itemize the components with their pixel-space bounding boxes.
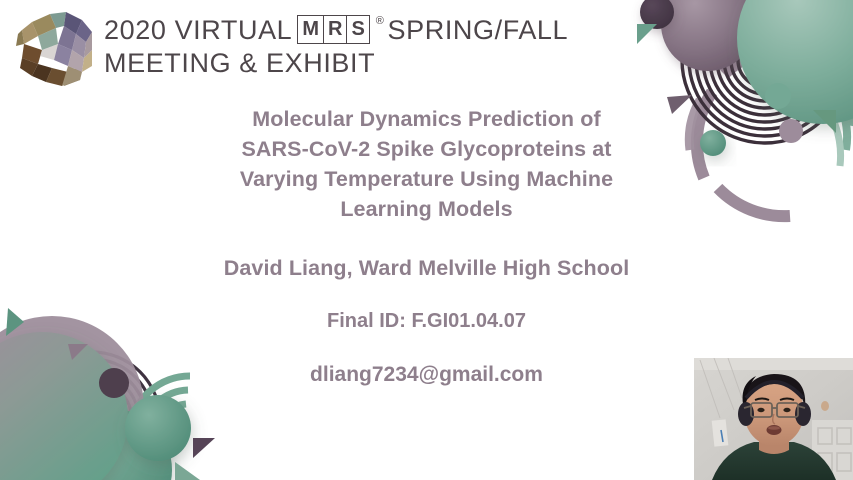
mrs-letter-m: M [297, 15, 324, 44]
mauve-sphere-top [661, 0, 755, 71]
header-line-1: 2020 VIRTUAL M R S ® SPRING/FALL [104, 14, 568, 47]
plum-triangle-bottom [193, 438, 215, 458]
mrs-boxed-logotype: M R S [297, 15, 369, 44]
header-line1-suffix: SPRING/FALL [388, 14, 569, 47]
mrs-faceted-hexagon-logo [12, 6, 96, 94]
final-id: Final ID: F.GI01.04.07 [0, 310, 853, 333]
teal-sphere-bottom [48, 408, 172, 480]
presentation-slide: 2020 VIRTUAL M R S ® SPRING/FALL MEETING… [0, 0, 853, 480]
title-line-1: Molecular Dynamics Prediction of [0, 104, 853, 134]
presenter-webcam-feed[interactable] [694, 358, 853, 480]
teal-disc-bottom [125, 395, 191, 461]
header-line2-text: MEETING & EXHIBIT [104, 47, 375, 80]
header-line1-prefix: 2020 VIRTUAL [104, 14, 292, 47]
title-line-3: Varying Temperature Using Machine [0, 164, 853, 194]
title-line-4: Learning Models [0, 194, 853, 224]
header-text-block: 2020 VIRTUAL M R S ® SPRING/FALL MEETING… [104, 14, 568, 80]
teal-triangle-topleft [637, 24, 657, 44]
header-line-2: MEETING & EXHIBIT [104, 47, 568, 80]
registered-trademark-icon: ® [376, 15, 385, 28]
dark-plum-circle [640, 0, 674, 29]
mrs-letter-s: S [347, 15, 369, 44]
presentation-title: Molecular Dynamics Prediction of SARS-Co… [0, 104, 853, 224]
teal-triangle-bottom [175, 462, 200, 480]
slide-body: Molecular Dynamics Prediction of SARS-Co… [0, 104, 853, 387]
author-affiliation: David Liang, Ward Melville High School [0, 256, 853, 281]
title-line-2: SARS-CoV-2 Spike Glycoproteins at [0, 134, 853, 164]
event-header: 2020 VIRTUAL M R S ® SPRING/FALL MEETING… [12, 6, 568, 94]
mrs-letter-r: R [324, 15, 347, 44]
